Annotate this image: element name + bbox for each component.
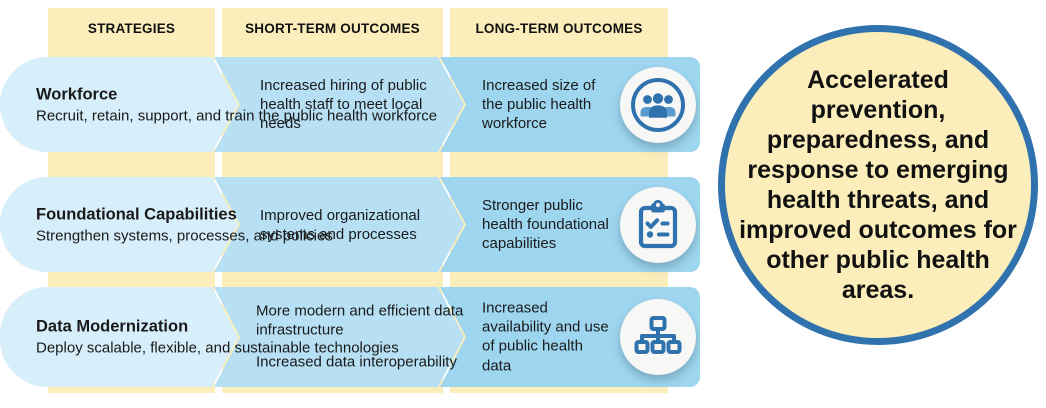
clipboard-checklist-icon <box>620 187 696 263</box>
short-term-item: Increased data interoperability <box>256 353 471 372</box>
short-term-text: Improved organizational systems and proc… <box>260 205 460 243</box>
people-group-icon <box>620 67 696 143</box>
column-header-short-term: SHORT-TERM OUTCOMES <box>222 8 443 48</box>
short-term-text: Increased hiring of public health staff … <box>260 76 460 134</box>
short-term-text: More modern and efficient data infrastru… <box>256 302 471 373</box>
short-term-item: More modern and efficient data infrastru… <box>256 302 471 340</box>
org-hierarchy-icon <box>620 299 696 375</box>
column-header-label: SHORT-TERM OUTCOMES <box>245 21 420 36</box>
column-header-label: LONG-TERM OUTCOMES <box>475 21 642 36</box>
infographic-canvas: STRATEGIES SHORT-TERM OUTCOMES LONG-TERM… <box>0 0 1046 408</box>
column-header-long-term: LONG-TERM OUTCOMES <box>450 8 668 48</box>
flow-row-data-modernization: Data Modernization Deploy scalable, flex… <box>0 287 700 387</box>
long-term-text: Stronger public health foundational capa… <box>482 196 612 254</box>
long-term-text: Increased availability and use of public… <box>482 299 612 376</box>
outcome-circle: Accelerated prevention, preparedness, an… <box>718 25 1038 345</box>
column-header-strategies: STRATEGIES <box>48 8 215 48</box>
column-header-label: STRATEGIES <box>88 21 175 36</box>
flow-row-workforce: Workforce Recruit, retain, support, and … <box>0 57 700 152</box>
flow-row-foundational-capabilities: Foundational Capabilities Strengthen sys… <box>0 177 700 272</box>
long-term-text: Increased size of the public health work… <box>482 76 612 134</box>
short-term-item: Improved organizational systems and proc… <box>260 205 460 243</box>
short-term-item: Increased hiring of public health staff … <box>260 76 460 134</box>
outcome-text: Accelerated prevention, preparedness, an… <box>739 65 1017 305</box>
